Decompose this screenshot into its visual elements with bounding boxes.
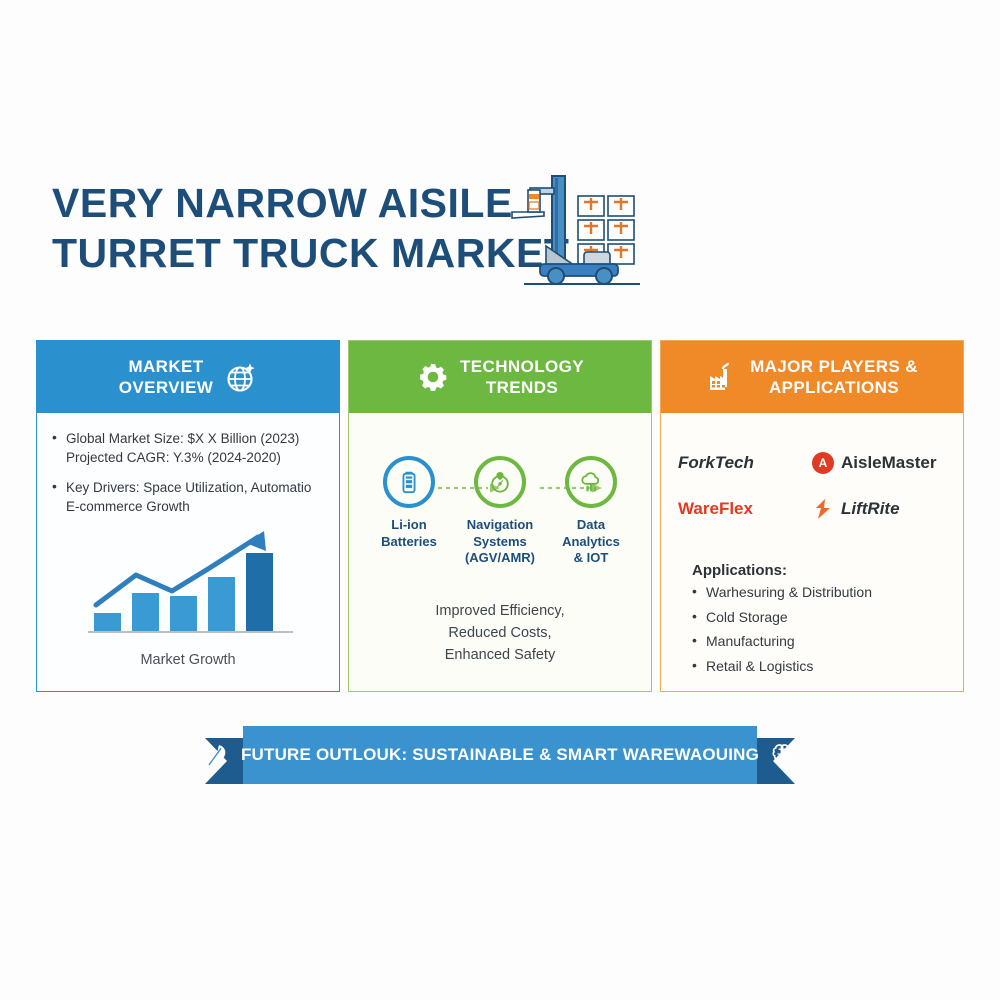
banner-text: FUTURE OUTLOUK: SUSTAINABLE & SMART WARE…	[241, 745, 759, 765]
tech-step-li-ion-batteries: Li-ion Batteries	[370, 456, 448, 567]
leaf-icon	[205, 742, 231, 768]
orange-bolt-icon	[812, 498, 834, 520]
card-header-line-1: TECHNOLOGY	[460, 357, 584, 376]
logo-wareflex: WareFlex	[678, 486, 812, 532]
tech-step-navigation-systems: Navigation Systems (AGV/AMR)	[461, 456, 539, 567]
factory-icon	[706, 360, 740, 394]
logo-label: LiftRite	[841, 499, 900, 519]
battery-icon	[383, 456, 435, 508]
tech-step-line-1: Navigation	[467, 517, 533, 532]
brain-icon	[769, 742, 795, 768]
page-title-line-2: TURRET TRUCK MARKET	[52, 228, 552, 278]
future-outlook-banner: FUTURE OUTLOUK: SUSTAINABLE & SMART WARE…	[205, 726, 795, 796]
card-header-text: MARKET OVERVIEW	[119, 356, 214, 399]
market-overview-bullets: Global Market Size: $X X Billion (2023) …	[51, 429, 341, 528]
technology-steps: Li-ion Batteries Navigation Systems (AGV…	[348, 456, 652, 567]
navigation-compass-icon	[474, 456, 526, 508]
tech-step-label: Data Analytics & IOT	[552, 517, 630, 567]
infographic-canvas: VERY NARROW AISILE TURRET TRUCK MARKET	[0, 0, 1000, 1000]
benefit-line-1: Improved Efficiency,	[435, 603, 564, 619]
benefit-line-3: Enhanced Safety	[445, 647, 555, 663]
card-header-line-2: OVERVIEW	[119, 378, 214, 397]
tech-step-line-2: Analytics	[562, 534, 620, 549]
applications-title: Applications:	[692, 562, 787, 579]
card-header-line-1: MAJOR PLAYERS &	[750, 357, 918, 376]
page-title-line-1: VERY NARROW AISILE	[52, 178, 552, 228]
card-header-text: TECHNOLOGY TRENDS	[460, 356, 584, 399]
trend-arrow-head	[246, 531, 266, 551]
card-header-text: MAJOR PLAYERS & APPLICATIONS	[750, 356, 918, 399]
bullet-2-line-2: E-commerce Growth	[66, 499, 190, 514]
gear-icon	[416, 360, 450, 394]
tech-step-line-2: Batteries	[381, 534, 437, 549]
card-header-technology-trends: TECHNOLOGY TRENDS	[349, 341, 651, 413]
cloud-analytics-icon	[565, 456, 617, 508]
card-header-line-1: MARKET	[128, 357, 203, 376]
globe-icon	[223, 360, 257, 394]
card-header-line-2: APPLICATIONS	[769, 378, 899, 397]
turret-truck-illustration	[500, 168, 650, 288]
tech-step-data-analytics: Data Analytics & IOT	[552, 456, 630, 567]
company-logos: ForkTech A AisleMaster WareFlex LiftRite	[660, 440, 964, 532]
market-growth-caption: Market Growth	[36, 652, 340, 668]
logo-aislemaster: A AisleMaster	[812, 440, 946, 486]
card-market-overview: MARKET OVERVIEW Global Market Size: $X X…	[36, 340, 340, 692]
logo-label: ForkTech	[678, 453, 754, 473]
bullet-1-line-1: Global Market Size: $X X Billion (2023)	[66, 431, 299, 446]
market-growth-chart	[88, 527, 293, 635]
bullet-2-line-1: Key Drivers: Space Utilization, Automati…	[66, 480, 311, 495]
list-item: Cold Storage	[692, 607, 872, 628]
logo-forktech: ForkTech	[678, 440, 812, 486]
card-header-line-2: TRENDS	[486, 378, 558, 397]
logo-label: AisleMaster	[841, 453, 936, 473]
tech-step-line-3: & IOT	[574, 550, 609, 565]
page-title: VERY NARROW AISILE TURRET TRUCK MARKET	[52, 178, 552, 278]
tech-step-line-3: (AGV/AMR)	[465, 550, 535, 565]
logo-label: WareFlex	[678, 499, 753, 519]
benefit-line-2: Reduced Costs,	[448, 625, 551, 641]
tech-step-label: Li-ion Batteries	[370, 517, 448, 550]
list-item: Retail & Logistics	[692, 656, 872, 677]
logo-liftrite: LiftRite	[812, 486, 946, 532]
card-header-market-overview: MARKET OVERVIEW	[37, 341, 339, 413]
list-item: Manufacturing	[692, 631, 872, 652]
banner-band: FUTURE OUTLOUK: SUSTAINABLE & SMART WARE…	[243, 726, 757, 784]
list-item: Warhesuring & Distribution	[692, 582, 872, 603]
bullet-1-line-2: Projected CAGR: Y.3% (2024-2020)	[66, 450, 281, 465]
tech-step-line-2: Systems	[473, 534, 526, 549]
applications-list: Warhesuring & Distribution Cold Storage …	[692, 582, 872, 680]
list-item: Key Drivers: Space Utilization, Automati…	[51, 478, 341, 516]
tech-step-label: Navigation Systems (AGV/AMR)	[461, 517, 539, 567]
circle-a-badge-icon: A	[812, 452, 834, 474]
chart-bars	[94, 553, 273, 631]
tech-step-line-1: Data	[577, 517, 605, 532]
card-body-market-overview: Global Market Size: $X X Billion (2023) …	[37, 413, 339, 528]
card-header-major-players: MAJOR PLAYERS & APPLICATIONS	[661, 341, 963, 413]
technology-benefits: Improved Efficiency, Reduced Costs, Enha…	[348, 600, 652, 666]
list-item: Global Market Size: $X X Billion (2023) …	[51, 429, 341, 467]
tech-step-line-1: Li-ion	[391, 517, 426, 532]
